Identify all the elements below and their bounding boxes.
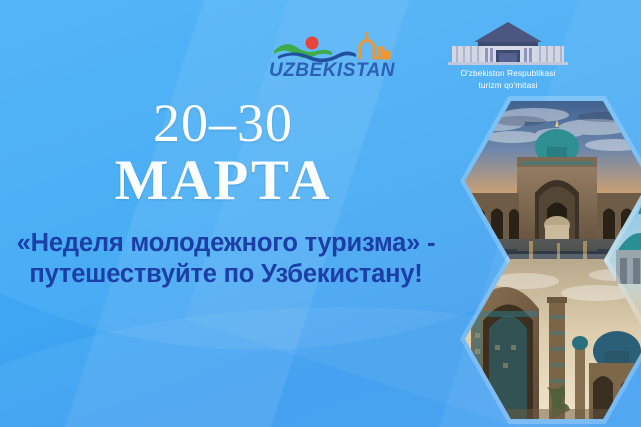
tourism-committee-logo: O'zbekiston Respublikasi turizm qo'mitas… — [438, 20, 578, 96]
committee-name-line1: O'zbekiston Respublikasi — [438, 69, 578, 80]
slogan-line-1: «Неделя молодежного туризма» - — [17, 229, 436, 257]
event-dates: 20–30 — [8, 96, 438, 150]
slogan-line-2: путешествуйте по Узбекистану! — [0, 259, 452, 290]
committee-name-line2: turizm qo'mitasi — [438, 81, 578, 92]
tourism-committee-building-icon — [438, 20, 578, 68]
promo-banner: UZBEKISTAN — [0, 0, 641, 427]
svg-text:UZBEKISTAN: UZBEKISTAN — [269, 60, 396, 81]
logo-row: UZBEKISTAN — [0, 18, 641, 96]
event-month: МАРТА — [8, 152, 438, 210]
event-slogan: «Неделя молодежного туризма» - путешеств… — [0, 228, 452, 290]
uzbekistan-tourism-logo: UZBEKISTAN — [252, 24, 412, 84]
